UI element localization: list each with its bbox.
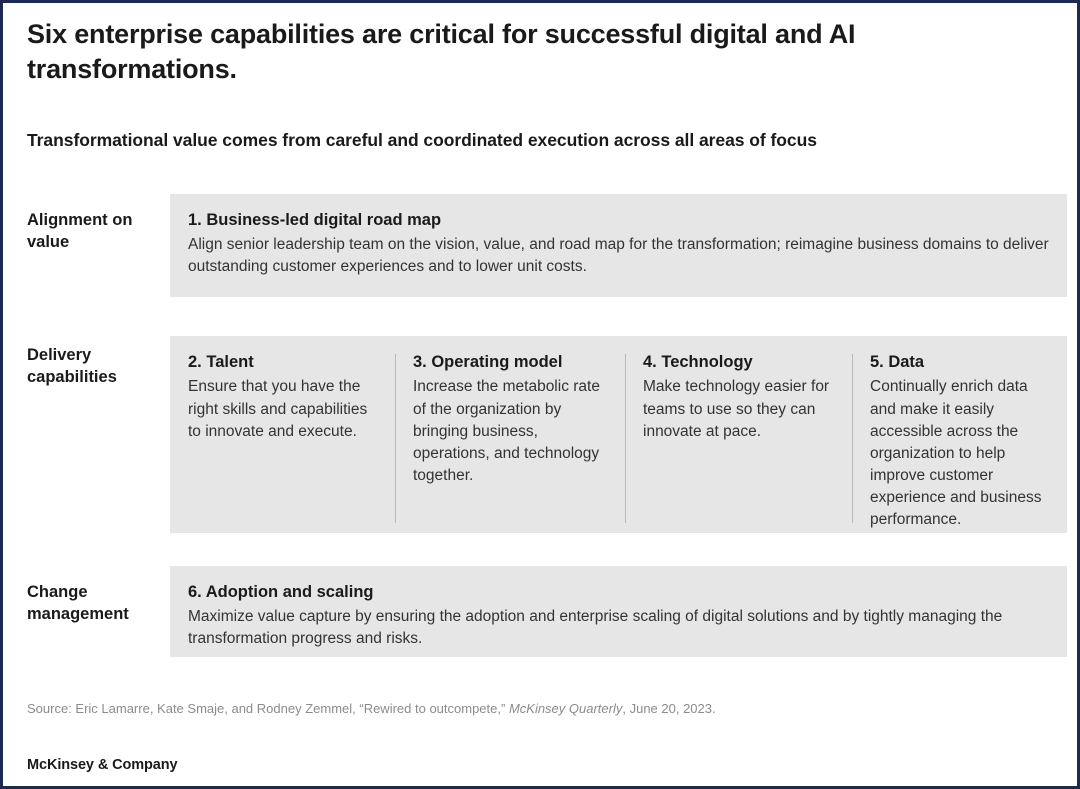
source-note-publication: McKinsey Quarterly xyxy=(509,701,622,716)
capability-body-3: Increase the metabolic rate of the organ… xyxy=(413,376,607,487)
panel-change-management: 6. Adoption and scaling Maximize value c… xyxy=(170,566,1067,657)
capability-body-1: Align senior leadership team on the visi… xyxy=(188,234,1049,278)
row-label-change-management: Change management xyxy=(27,581,167,626)
capability-body-4: Make technology easier for teams to use … xyxy=(643,376,834,442)
source-note-suffix: , June 20, 2023. xyxy=(622,701,715,716)
capability-column-data: 5. Data Continually enrich data and make… xyxy=(852,352,1067,533)
panel-delivery-capabilities: 2. Talent Ensure that you have the right… xyxy=(170,336,1067,533)
capability-column-group: 2. Talent Ensure that you have the right… xyxy=(170,336,1067,533)
mckinsey-logo: McKinsey & Company xyxy=(27,757,178,773)
capability-title-5: 5. Data xyxy=(870,352,1049,373)
capability-body-2: Ensure that you have the right skills an… xyxy=(188,376,377,442)
capability-column-technology: 4. Technology Make technology easier for… xyxy=(625,352,852,533)
capability-title-1: 1. Business-led digital road map xyxy=(188,210,1049,231)
capability-title-3: 3. Operating model xyxy=(413,352,607,373)
row-label-delivery-capabilities: Delivery capabilities xyxy=(27,344,167,389)
page-subtitle: Transformational value comes from carefu… xyxy=(27,129,1037,152)
capability-body-6: Maximize value capture by ensuring the a… xyxy=(188,606,1049,650)
source-note: Source: Eric Lamarre, Kate Smaje, and Ro… xyxy=(27,700,716,718)
row-label-alignment-on-value: Alignment on value xyxy=(27,209,167,254)
exhibit-container: Six enterprise capabilities are critical… xyxy=(0,0,1080,789)
source-note-prefix: Source: Eric Lamarre, Kate Smaje, and Ro… xyxy=(27,701,509,716)
panel-alignment-on-value: 1. Business-led digital road map Align s… xyxy=(170,194,1067,297)
page-title: Six enterprise capabilities are critical… xyxy=(27,17,1027,86)
capability-column-operating-model: 3. Operating model Increase the metaboli… xyxy=(395,352,625,533)
capability-title-2: 2. Talent xyxy=(188,352,377,373)
capability-body-5: Continually enrich data and make it easi… xyxy=(870,376,1049,531)
capability-title-4: 4. Technology xyxy=(643,352,834,373)
exhibit-inner: Six enterprise capabilities are critical… xyxy=(3,3,1077,786)
capability-column-talent: 2. Talent Ensure that you have the right… xyxy=(170,352,395,533)
capability-title-6: 6. Adoption and scaling xyxy=(188,582,1049,603)
